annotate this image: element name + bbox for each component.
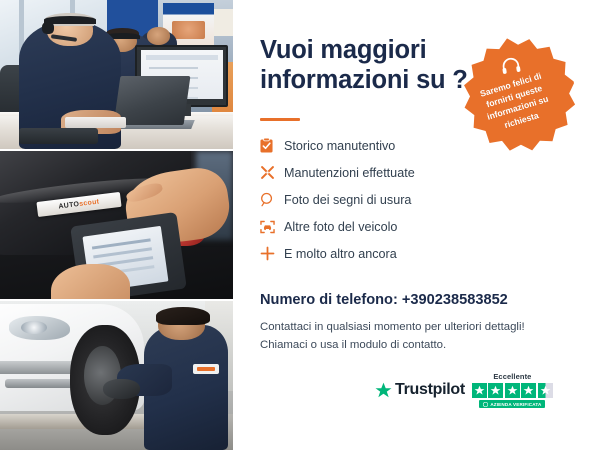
tablet-on-desk xyxy=(19,128,98,144)
badge-text: Saremo felici di fornirti queste informa… xyxy=(467,66,565,138)
content-panel: Vuoi maggiori informazioni su ? Saremo f… xyxy=(233,0,600,450)
star-5-half xyxy=(538,383,553,398)
star-4 xyxy=(521,383,536,398)
trustpilot-name: Trustpilot xyxy=(395,381,465,399)
feature-item-molto-altro-ancora: E molto altro ancora xyxy=(260,240,510,267)
feature-label: Storico manutentivo xyxy=(284,139,395,153)
phone-number-label: Numero di telefono: +390238583852 xyxy=(260,292,508,308)
agent-one-headset-cup xyxy=(42,22,54,34)
page-title: Vuoi maggiori informazioni su ? xyxy=(260,36,475,95)
feature-item-manutenzioni-effettuate: Manutenzioni effettuate xyxy=(260,159,510,186)
photo-frame-car-icon xyxy=(260,220,284,234)
verified-business-badge: AZIENDA VERIFICATA xyxy=(479,400,545,408)
feature-list: Storico manutentivo Manutenzioni effettu… xyxy=(260,132,510,267)
trustpilot-rating-block: Eccellente xyxy=(472,372,553,408)
mechanic-glove xyxy=(103,379,140,400)
agent-three-head xyxy=(147,27,170,45)
star-2 xyxy=(488,383,503,398)
car-headlight-lens xyxy=(21,321,47,334)
feature-label: Manutenzioni effettuate xyxy=(284,166,415,180)
photo-hand-applying-auto-label-on-car: AUTOscout xyxy=(0,151,233,300)
feature-label: Foto dei segni di usura xyxy=(284,193,411,207)
contact-line-1: Contattaci in qualsiasi momento per ulte… xyxy=(260,318,525,336)
feature-item-storico-manutentivo: Storico manutentivo xyxy=(260,132,510,159)
feature-item-foto-segni-usura: Foto dei segni di usura xyxy=(260,186,510,213)
star-1 xyxy=(472,383,487,398)
technician-hand-lower xyxy=(51,264,130,300)
wrench-cross-icon xyxy=(260,165,284,180)
photo-column: AUTOscout xyxy=(0,0,233,450)
photo-call-center-agents-with-headsets xyxy=(0,0,233,149)
verified-business-label: AZIENDA VERIFICATA xyxy=(490,402,541,407)
trustpilot-logo: Trustpilot xyxy=(375,381,465,399)
star-3 xyxy=(505,383,520,398)
contact-description: Contattaci in qualsiasi momento per ulte… xyxy=(260,318,525,355)
advert-banner: AUTOscout xyxy=(0,0,600,450)
photo-mechanic-working-on-car-wheel xyxy=(0,301,233,450)
keyboard xyxy=(65,117,126,127)
magnifier-icon xyxy=(260,192,284,207)
mechanic-hair xyxy=(156,307,210,325)
feature-label: Altre foto del veicolo xyxy=(284,220,397,234)
feature-label: E molto altro ancora xyxy=(284,247,397,261)
poster-image xyxy=(172,21,205,39)
contact-line-2: Chiamaci o usa il modulo di contatto. xyxy=(260,336,525,354)
plus-icon xyxy=(260,246,284,261)
title-underline-divider xyxy=(260,118,300,121)
trustpilot-stars xyxy=(472,383,553,398)
headphones-icon xyxy=(500,55,522,76)
trustpilot-star-icon xyxy=(375,382,392,399)
shelf xyxy=(214,9,233,36)
feature-item-altre-foto-veicolo: Altre foto del veicolo xyxy=(260,213,510,240)
verified-check-icon xyxy=(483,402,488,407)
mechanic-uniform-badge xyxy=(193,364,219,374)
trustpilot-rating-label: Eccellente xyxy=(493,372,531,381)
clipboard-check-icon xyxy=(260,138,284,153)
trustpilot-widget[interactable]: Trustpilot Eccellente xyxy=(375,372,553,408)
